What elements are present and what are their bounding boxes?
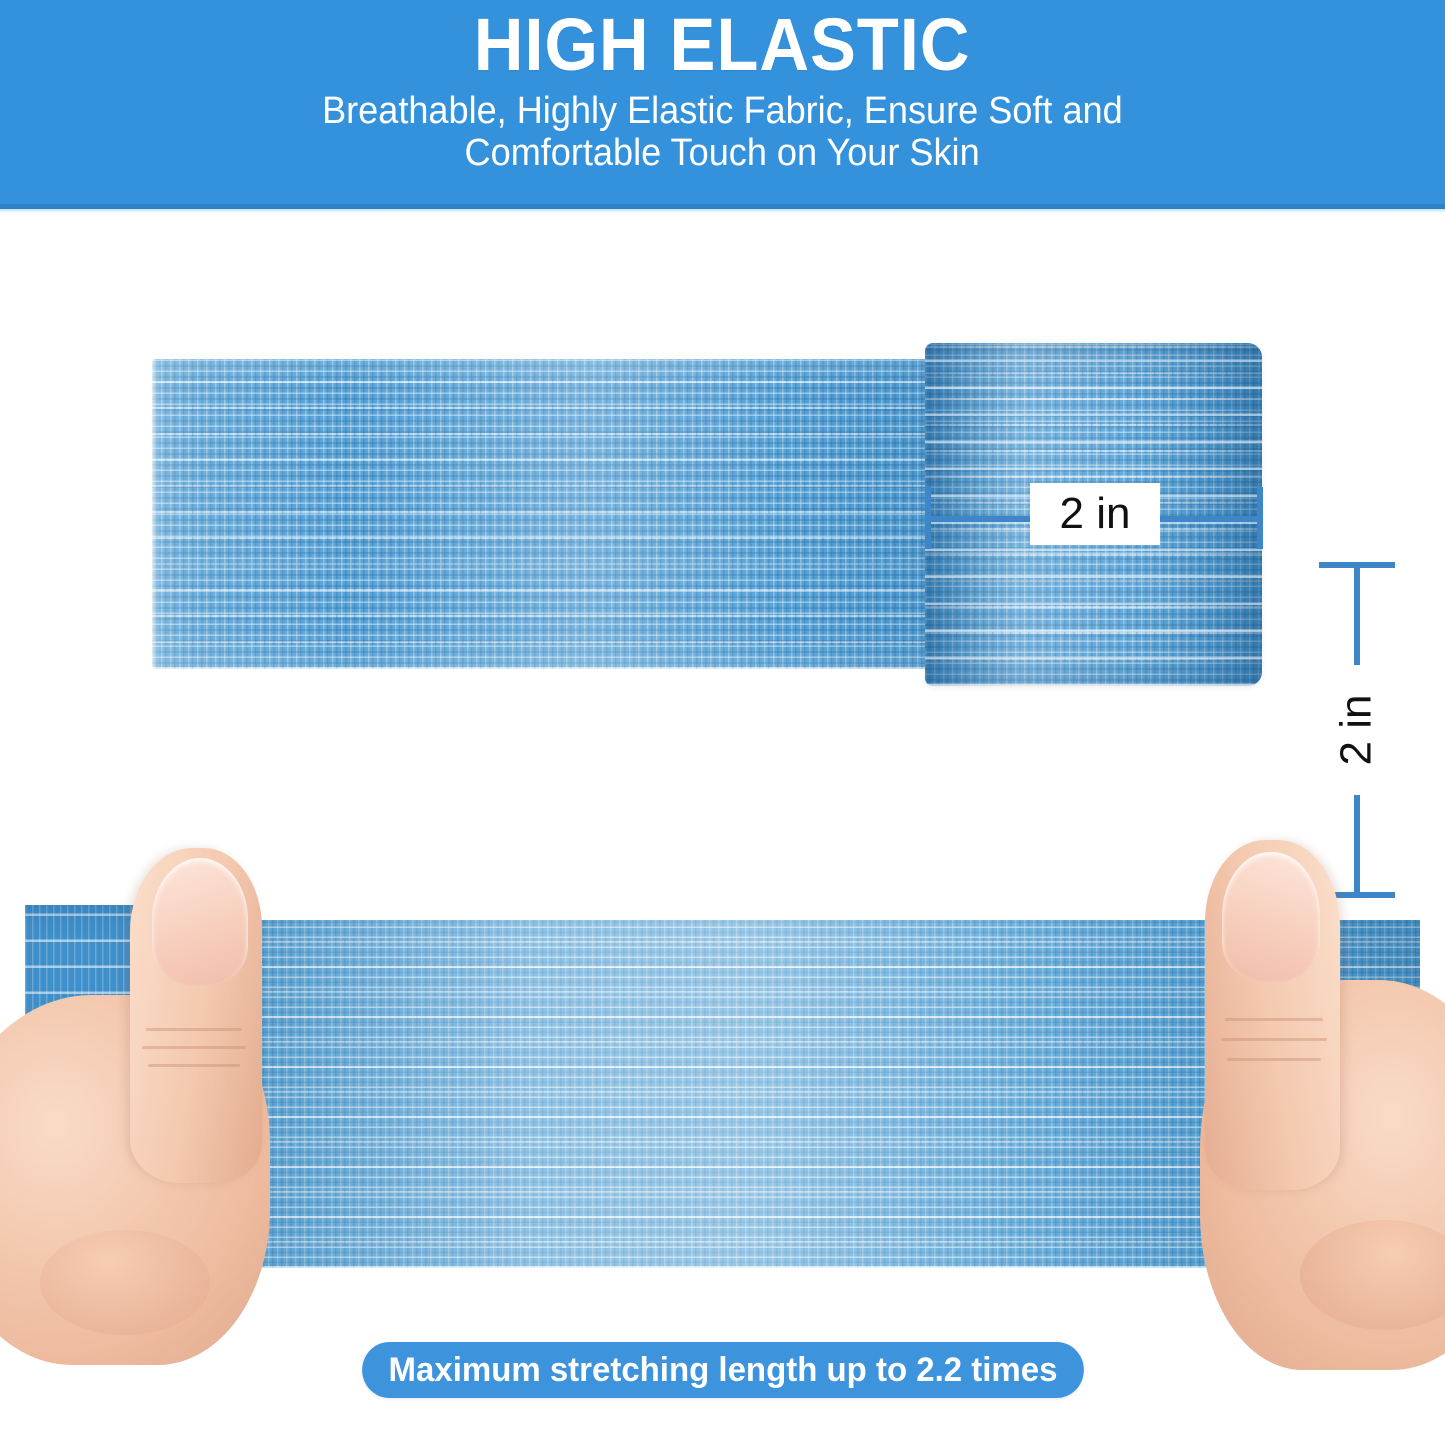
height-dimension-cap-top (1319, 562, 1395, 568)
width-dimension-cap-right (1257, 487, 1263, 549)
height-dimension-label: 2 in (1316, 665, 1396, 795)
bandage-flat-strip (152, 359, 942, 669)
width-dimension-cap-left (925, 487, 931, 549)
banner-glow-strip (0, 209, 1445, 213)
left-knuckles (40, 1230, 210, 1335)
banner-subtitle-line2: Comfortable Touch on Your Skin (465, 130, 980, 176)
left-thumbnail (152, 858, 248, 986)
right-thumbnail (1222, 852, 1320, 982)
width-dimension-label: 2 in (1030, 483, 1160, 545)
product-photo-measurements: 2 in 2 in Total Length: 180 in / 5 Yds (0, 225, 1445, 785)
height-dimension-label-text: 2 in (1331, 695, 1381, 766)
product-photo-stretching (0, 800, 1445, 1360)
product-infographic: HIGH ELASTIC Breathable, Highly Elastic … (0, 0, 1445, 1445)
page-title: HIGH ELASTIC (474, 6, 971, 84)
header-banner: HIGH ELASTIC Breathable, Highly Elastic … (0, 0, 1445, 209)
banner-subtitle-line1: Breathable, Highly Elastic Fabric, Ensur… (322, 88, 1123, 134)
stretch-badge: Maximum stretching length up to 2.2 time… (362, 1342, 1084, 1398)
